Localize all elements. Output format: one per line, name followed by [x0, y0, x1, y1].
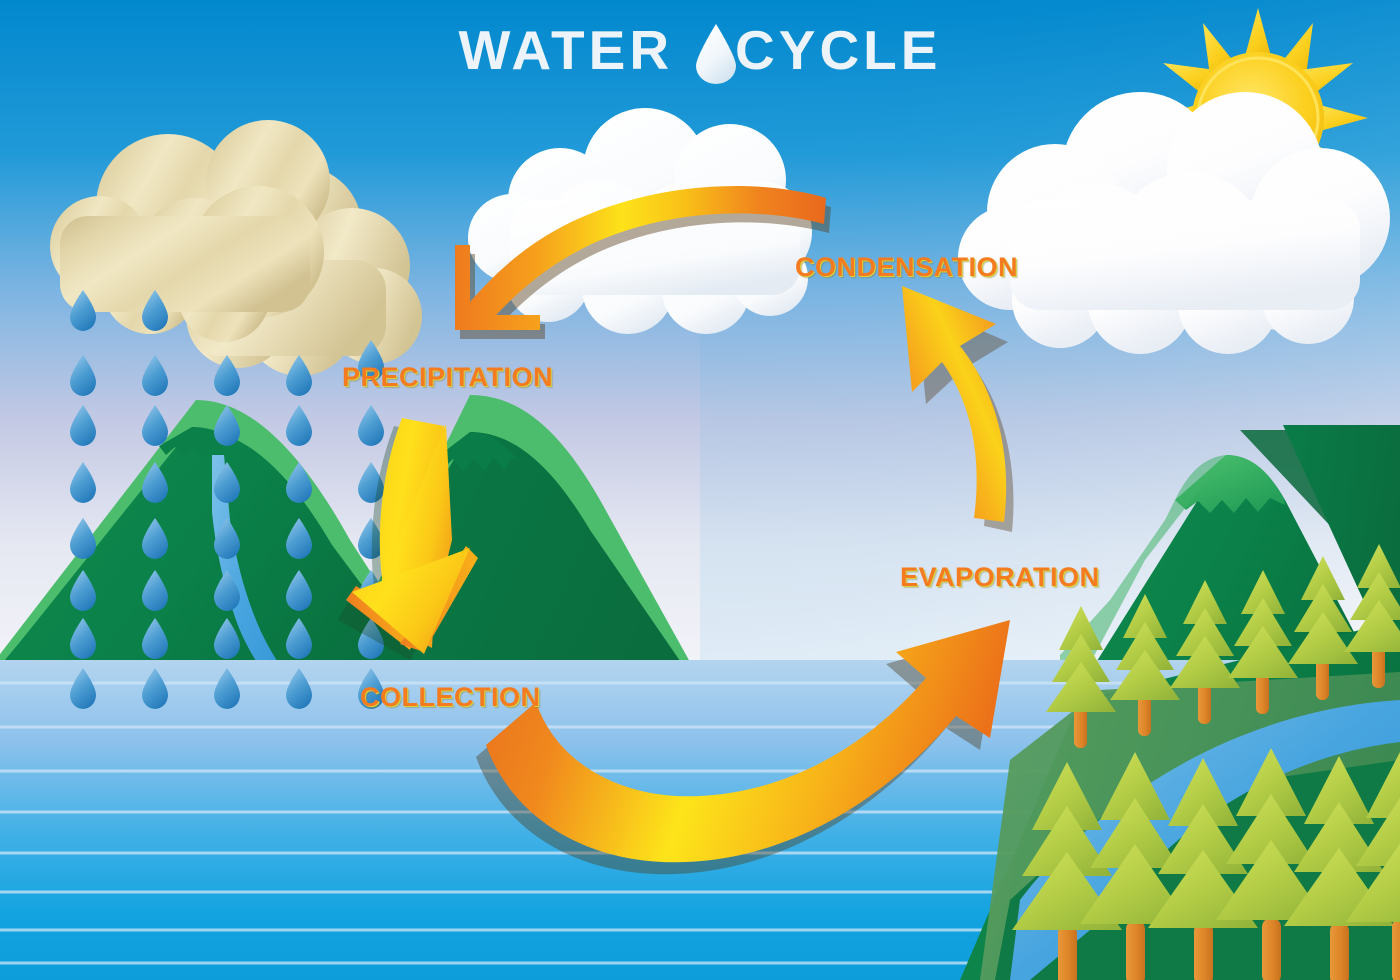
label-collection: COLLECTION	[360, 682, 541, 713]
label-condensation: CONDENSATION	[795, 252, 1018, 283]
scene-illustration	[0, 0, 1400, 980]
water-drop-icon	[694, 22, 738, 84]
water-cycle-diagram: WATERCYCLE PRECIPITATION CONDENSATION EV…	[0, 0, 1400, 980]
pine-forest-front	[1012, 748, 1400, 980]
label-precipitation: PRECIPITATION	[342, 362, 553, 393]
title-word-cycle: CYCLE	[735, 19, 941, 81]
title-word-water: WATER	[459, 19, 674, 81]
label-evaporation: EVAPORATION	[900, 562, 1100, 593]
